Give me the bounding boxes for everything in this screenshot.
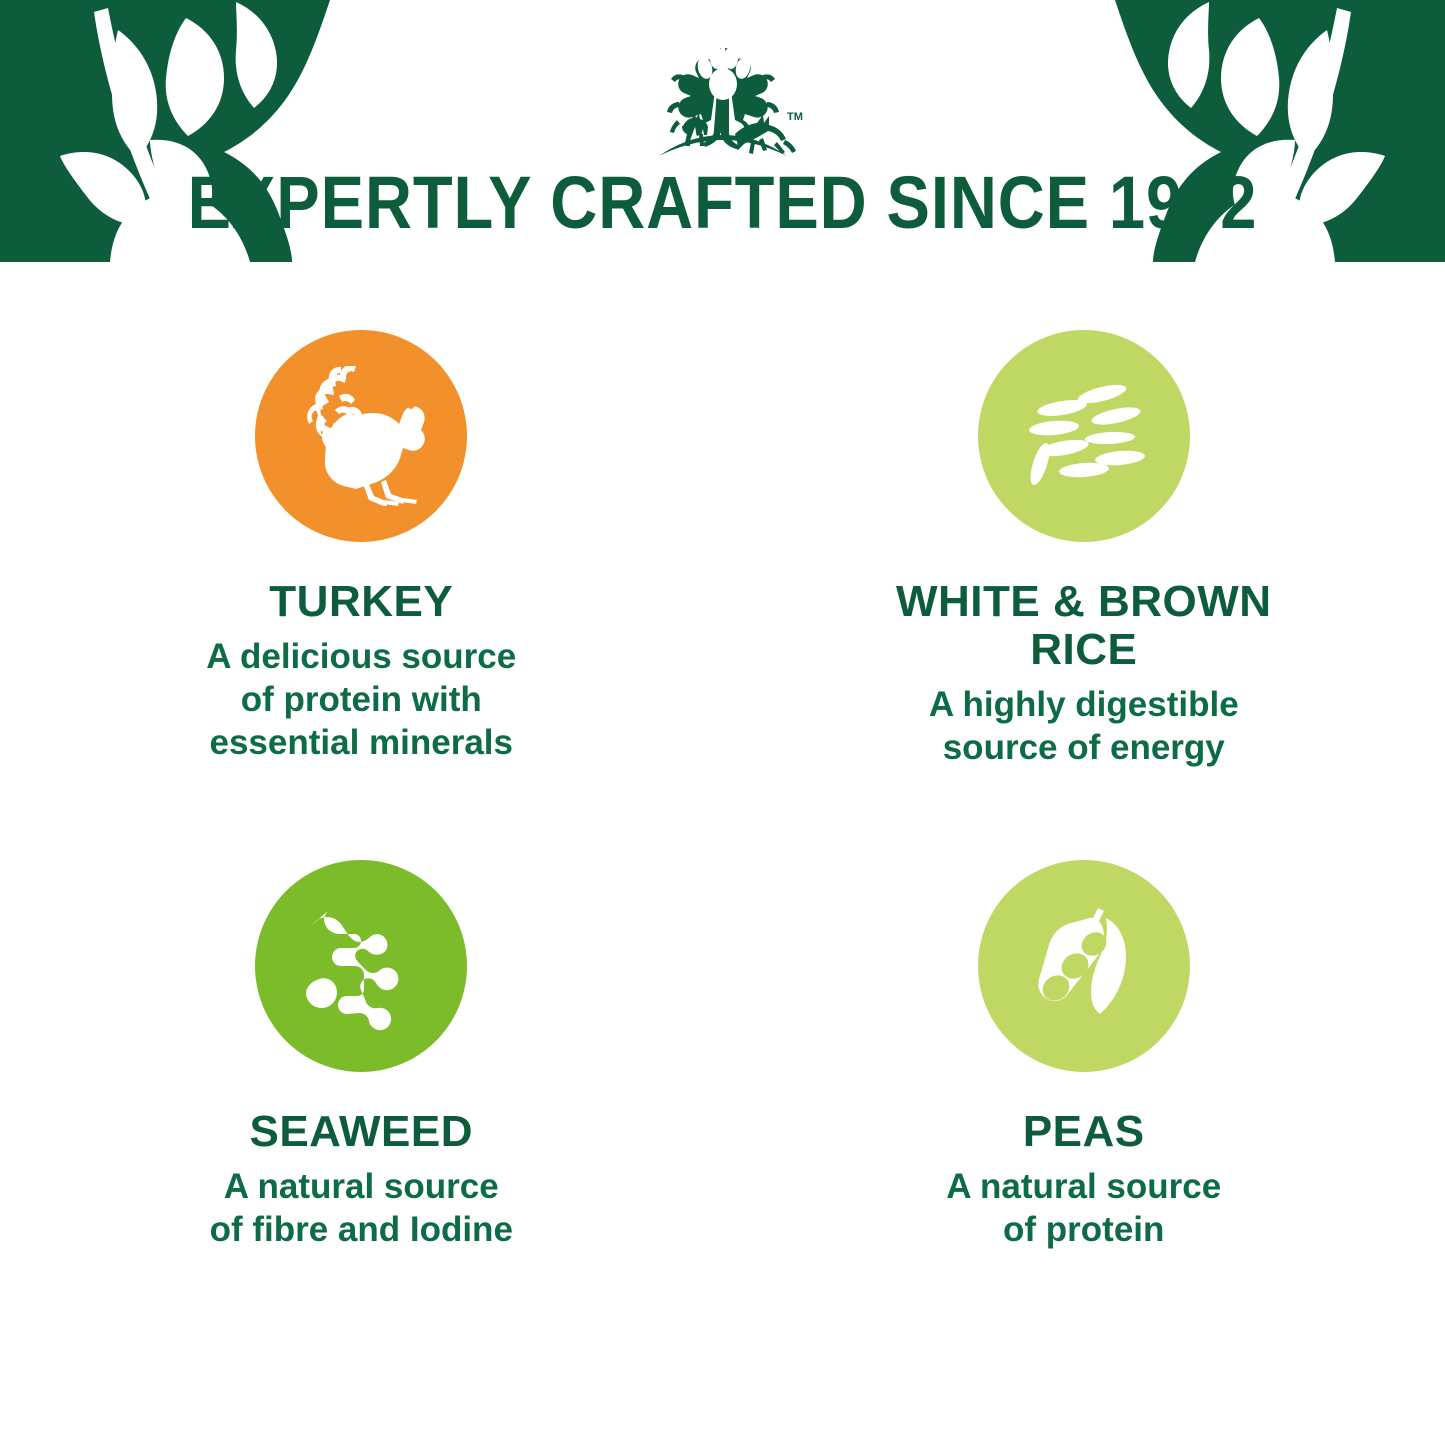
ingredient-description: A delicious source of protein with essen… bbox=[206, 635, 516, 764]
desc-line: A natural source bbox=[946, 1165, 1221, 1208]
turkey-badge bbox=[255, 330, 467, 542]
desc-line: of fibre and Iodine bbox=[210, 1208, 513, 1251]
desc-line: of protein bbox=[946, 1208, 1221, 1251]
ingredient-description: A natural source of protein bbox=[946, 1165, 1221, 1251]
peas-badge bbox=[978, 860, 1190, 1072]
desc-line: A highly digestible bbox=[929, 683, 1239, 726]
ingredient-card-turkey: TURKEY A delicious source of protein wit… bbox=[0, 330, 723, 860]
turkey-icon bbox=[291, 366, 431, 506]
ingredient-description: A highly digestible source of energy bbox=[929, 683, 1239, 769]
ingredient-card-peas: PEAS A natural source of protein bbox=[723, 860, 1445, 1390]
page-headline: EXPERTLY CRAFTED SINCE 1992 bbox=[87, 160, 1359, 246]
seaweed-badge bbox=[255, 860, 467, 1072]
ingredient-title: PEAS bbox=[1023, 1108, 1145, 1156]
ingredient-title: WHITE & BROWN RICE bbox=[849, 578, 1319, 674]
ingredient-title: SEAWEED bbox=[249, 1108, 473, 1156]
seaweed-icon bbox=[291, 896, 431, 1036]
ingredient-card-rice: WHITE & BROWN RICE A highly digestible s… bbox=[723, 330, 1445, 860]
brand-logo: TM bbox=[639, 38, 807, 162]
ingredients-grid: TURKEY A delicious source of protein wit… bbox=[0, 330, 1445, 1390]
desc-line: A delicious source bbox=[206, 635, 516, 678]
ingredient-title: TURKEY bbox=[269, 578, 453, 626]
ingredient-description: A natural source of fibre and Iodine bbox=[210, 1165, 513, 1251]
ingredient-card-seaweed: SEAWEED A natural source of fibre and Io… bbox=[0, 860, 723, 1390]
pea-pod-icon bbox=[1014, 896, 1154, 1036]
rice-grains-icon bbox=[1014, 366, 1154, 506]
ingredient-infographic-page: TM EXPERTLY CRAFTED SINCE 1992 bbox=[0, 0, 1445, 1445]
desc-line: of protein with bbox=[206, 678, 516, 721]
rice-badge bbox=[978, 330, 1190, 542]
desc-line: A natural source bbox=[210, 1165, 513, 1208]
desc-line: source of energy bbox=[929, 726, 1239, 769]
desc-line: essential minerals bbox=[206, 721, 516, 764]
trademark-symbol: TM bbox=[787, 111, 803, 123]
